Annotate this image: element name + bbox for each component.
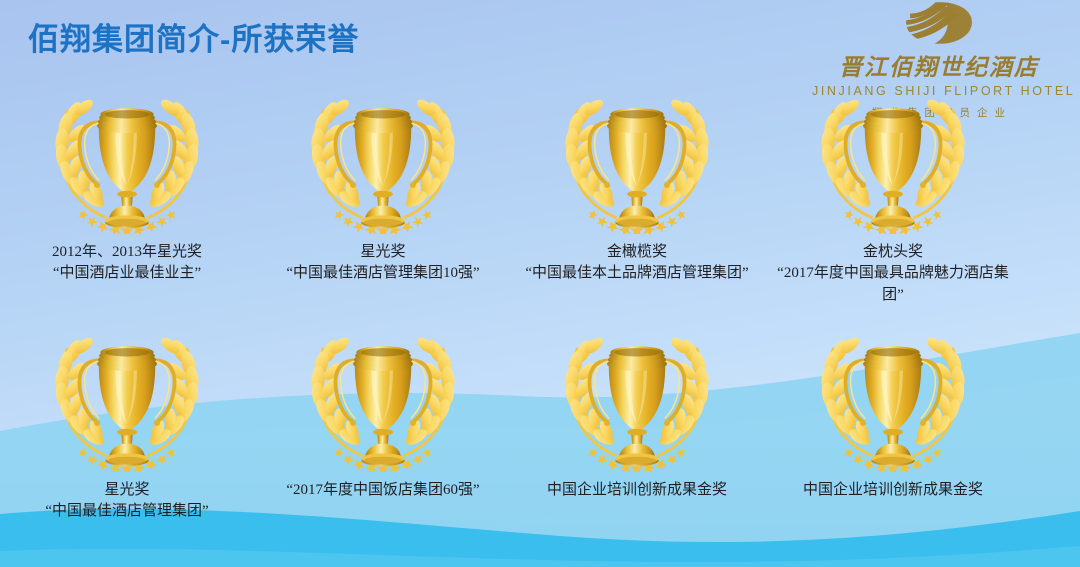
trophy-laurel-icon: [506, 334, 768, 474]
award-item: 星光奖 “中国最佳酒店管理集团”: [0, 334, 258, 523]
award-item: 2012年、2013年星光奖 “中国酒店业最佳业主”: [0, 96, 258, 285]
award-subtitle: “2017年度中国最具品牌魅力酒店集团”: [762, 263, 1024, 306]
award-item: 金枕头奖 “2017年度中国最具品牌魅力酒店集团”: [762, 96, 1024, 306]
award-caption: 2012年、2013年星光奖 “中国酒店业最佳业主”: [0, 242, 258, 285]
award-title: 星光奖: [252, 242, 514, 263]
award-title: 星光奖: [0, 480, 258, 501]
trophy-laurel-icon: [252, 96, 514, 236]
award-title: 金橄榄奖: [506, 242, 768, 263]
award-caption: 中国企业培训创新成果金奖: [762, 480, 1024, 501]
slide-canvas: 佰翔集团简介-所获荣誉 晋江佰翔世纪酒店 JINJIANG SHIJI FLIP…: [0, 0, 1080, 567]
trophy-laurel-icon: [252, 334, 514, 474]
logo-name-cn: 晋江佰翔世纪酒店: [812, 48, 1066, 82]
page-title: 佰翔集团简介-所获荣誉: [28, 14, 359, 59]
trophy-laurel-icon: [0, 96, 258, 236]
award-title: 2012年、2013年星光奖: [0, 242, 258, 263]
fliport-wave-emblem-icon: [902, 2, 976, 44]
trophy-laurel-icon: [762, 334, 1024, 474]
wave-bottom-highlight: [0, 546, 1080, 567]
award-subtitle: 中国企业培训创新成果金奖: [506, 480, 768, 501]
award-subtitle: “2017年度中国饭店集团60强”: [252, 480, 514, 501]
award-item: 中国企业培训创新成果金奖: [762, 334, 1024, 501]
award-item: “2017年度中国饭店集团60强”: [252, 334, 514, 501]
award-subtitle: “中国最佳本土品牌酒店管理集团”: [506, 263, 768, 284]
award-subtitle: “中国酒店业最佳业主”: [0, 263, 258, 284]
award-subtitle: 中国企业培训创新成果金奖: [762, 480, 1024, 501]
award-caption: “2017年度中国饭店集团60强”: [252, 480, 514, 501]
award-caption: 金枕头奖 “2017年度中国最具品牌魅力酒店集团”: [762, 242, 1024, 306]
award-title: 金枕头奖: [762, 242, 1024, 263]
award-caption: 金橄榄奖 “中国最佳本土品牌酒店管理集团”: [506, 242, 768, 285]
awards-grid: 2012年、2013年星光奖 “中国酒店业最佳业主” 星光奖 “中国最佳酒店管理…: [0, 96, 1080, 536]
award-subtitle: “中国最佳酒店管理集团”: [0, 501, 258, 522]
award-item: 星光奖 “中国最佳酒店管理集团10强”: [252, 96, 514, 285]
award-caption: 中国企业培训创新成果金奖: [506, 480, 768, 501]
award-caption: 星光奖 “中国最佳酒店管理集团10强”: [252, 242, 514, 285]
award-subtitle: “中国最佳酒店管理集团10强”: [252, 263, 514, 284]
award-item: 中国企业培训创新成果金奖: [506, 334, 768, 501]
award-item: 金橄榄奖 “中国最佳本土品牌酒店管理集团”: [506, 96, 768, 285]
trophy-laurel-icon: [0, 334, 258, 474]
trophy-laurel-icon: [762, 96, 1024, 236]
trophy-laurel-icon: [506, 96, 768, 236]
award-caption: 星光奖 “中国最佳酒店管理集团”: [0, 480, 258, 523]
